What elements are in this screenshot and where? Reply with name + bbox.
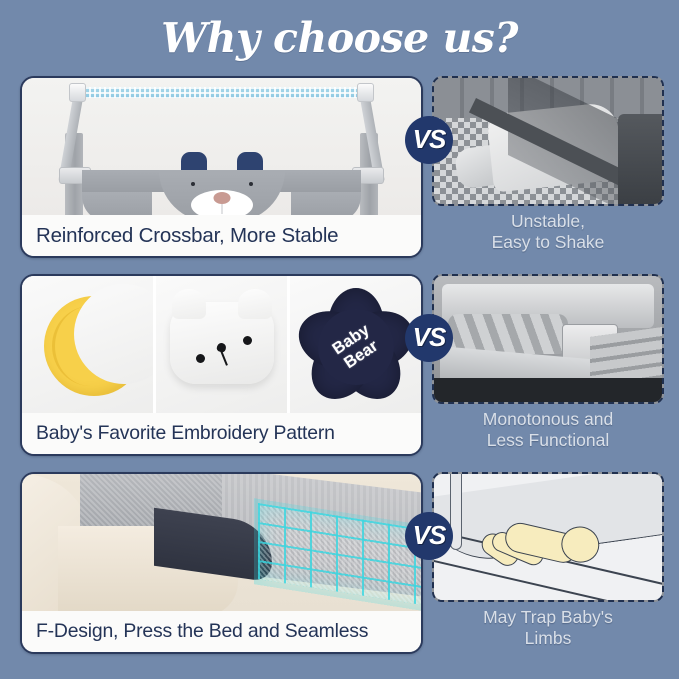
feature-panel-f-design[interactable]: F-Design, Press the Bed and Seamless <box>20 472 423 654</box>
feature-panel-embroidery[interactable]: Baby Bear Baby's Favorite Embroidery Pat… <box>20 274 423 456</box>
infographic-page: Why choose us? <box>0 0 679 679</box>
feature-caption-crossbar: Reinforced Crossbar, More Stable <box>22 215 421 256</box>
embroidery-patch-strip: Baby Bear <box>22 276 421 417</box>
competitor-caption-line1: May Trap Baby's <box>432 607 664 628</box>
f-design-illustration <box>22 474 421 615</box>
competitor-caption-line2: Less Functional <box>432 430 664 451</box>
vs-badge-row2: VS <box>405 314 453 362</box>
vs-badge-label: VS <box>413 520 446 551</box>
comparison-row-f-design: F-Design, Press the Bed and Seamless VS <box>0 468 679 664</box>
feature-image-f-design <box>22 474 421 615</box>
moon-patch-icon <box>44 296 144 396</box>
feature-caption-embroidery: Baby's Favorite Embroidery Pattern <box>22 413 421 454</box>
competitor-image-trapped-limbs <box>432 472 664 602</box>
vs-badge-row3: VS <box>405 512 453 560</box>
patch-cell-moon <box>22 276 153 417</box>
competitor-image-unstable <box>432 76 664 206</box>
rail-cap-right-icon <box>357 83 374 102</box>
feature-image-embroidery: Baby Bear <box>22 276 421 417</box>
bear-face-patch-icon <box>170 302 274 384</box>
patch-cell-star: Baby Bear <box>287 276 421 417</box>
bedpost-shape <box>618 114 662 206</box>
floor-shadow-shape <box>434 378 662 402</box>
patch-bear-eye-right-icon <box>243 336 252 345</box>
vs-badge-label: VS <box>413 124 446 155</box>
rail-mesh-topbar-icon <box>84 87 359 98</box>
bear-nose-icon <box>213 192 230 204</box>
vs-badge-row1: VS <box>405 116 453 164</box>
bear-eye-left-icon <box>191 182 195 186</box>
patch-bear-mouth-icon <box>220 350 227 365</box>
patch-cell-bear <box>153 276 287 417</box>
patch-bear-eye-left-icon <box>196 354 205 363</box>
bear-mouth-icon <box>221 204 222 214</box>
illustration-baby-trapped <box>434 474 662 600</box>
competitor-caption-unstable: Unstable, Easy to Shake <box>432 211 664 253</box>
patch-bear-ear-left-icon <box>172 289 206 319</box>
photo-baby-on-bed <box>434 78 662 204</box>
bear-eye-right-icon <box>249 182 253 186</box>
bed-rail-illustration <box>22 78 421 219</box>
competitor-column-row3: May Trap Baby's Limbs <box>432 472 664 649</box>
competitor-caption-trapped-limbs: May Trap Baby's Limbs <box>432 607 664 649</box>
comparison-row-embroidery: Baby Bear Baby's Favorite Embroidery Pat… <box>0 270 679 466</box>
patch-bear-ear-right-icon <box>238 289 272 319</box>
competitor-column-row1: Unstable, Easy to Shake <box>432 76 664 253</box>
competitor-caption-line2: Limbs <box>432 628 664 649</box>
feature-image-crossbar <box>22 78 421 219</box>
photo-plain-bed-rail <box>434 276 662 402</box>
competitor-caption-line1: Monotonous and <box>432 409 664 430</box>
page-title: Why choose us? <box>0 14 679 62</box>
competitor-image-monotonous <box>432 274 664 404</box>
competitor-caption-line2: Easy to Shake <box>432 232 664 253</box>
vs-badge-label: VS <box>413 322 446 353</box>
feature-panel-crossbar[interactable]: Reinforced Crossbar, More Stable <box>20 76 423 258</box>
comparison-row-crossbar: Reinforced Crossbar, More Stable VS Unst… <box>0 72 679 268</box>
competitor-caption-monotonous: Monotonous and Less Functional <box>432 409 664 451</box>
star-patch-icon: Baby Bear <box>290 284 422 410</box>
rail-cap-left-icon <box>69 83 86 102</box>
competitor-caption-line1: Unstable, <box>432 211 664 232</box>
competitor-column-row2: Monotonous and Less Functional <box>432 274 664 451</box>
feature-caption-f-design: F-Design, Press the Bed and Seamless <box>22 611 421 652</box>
